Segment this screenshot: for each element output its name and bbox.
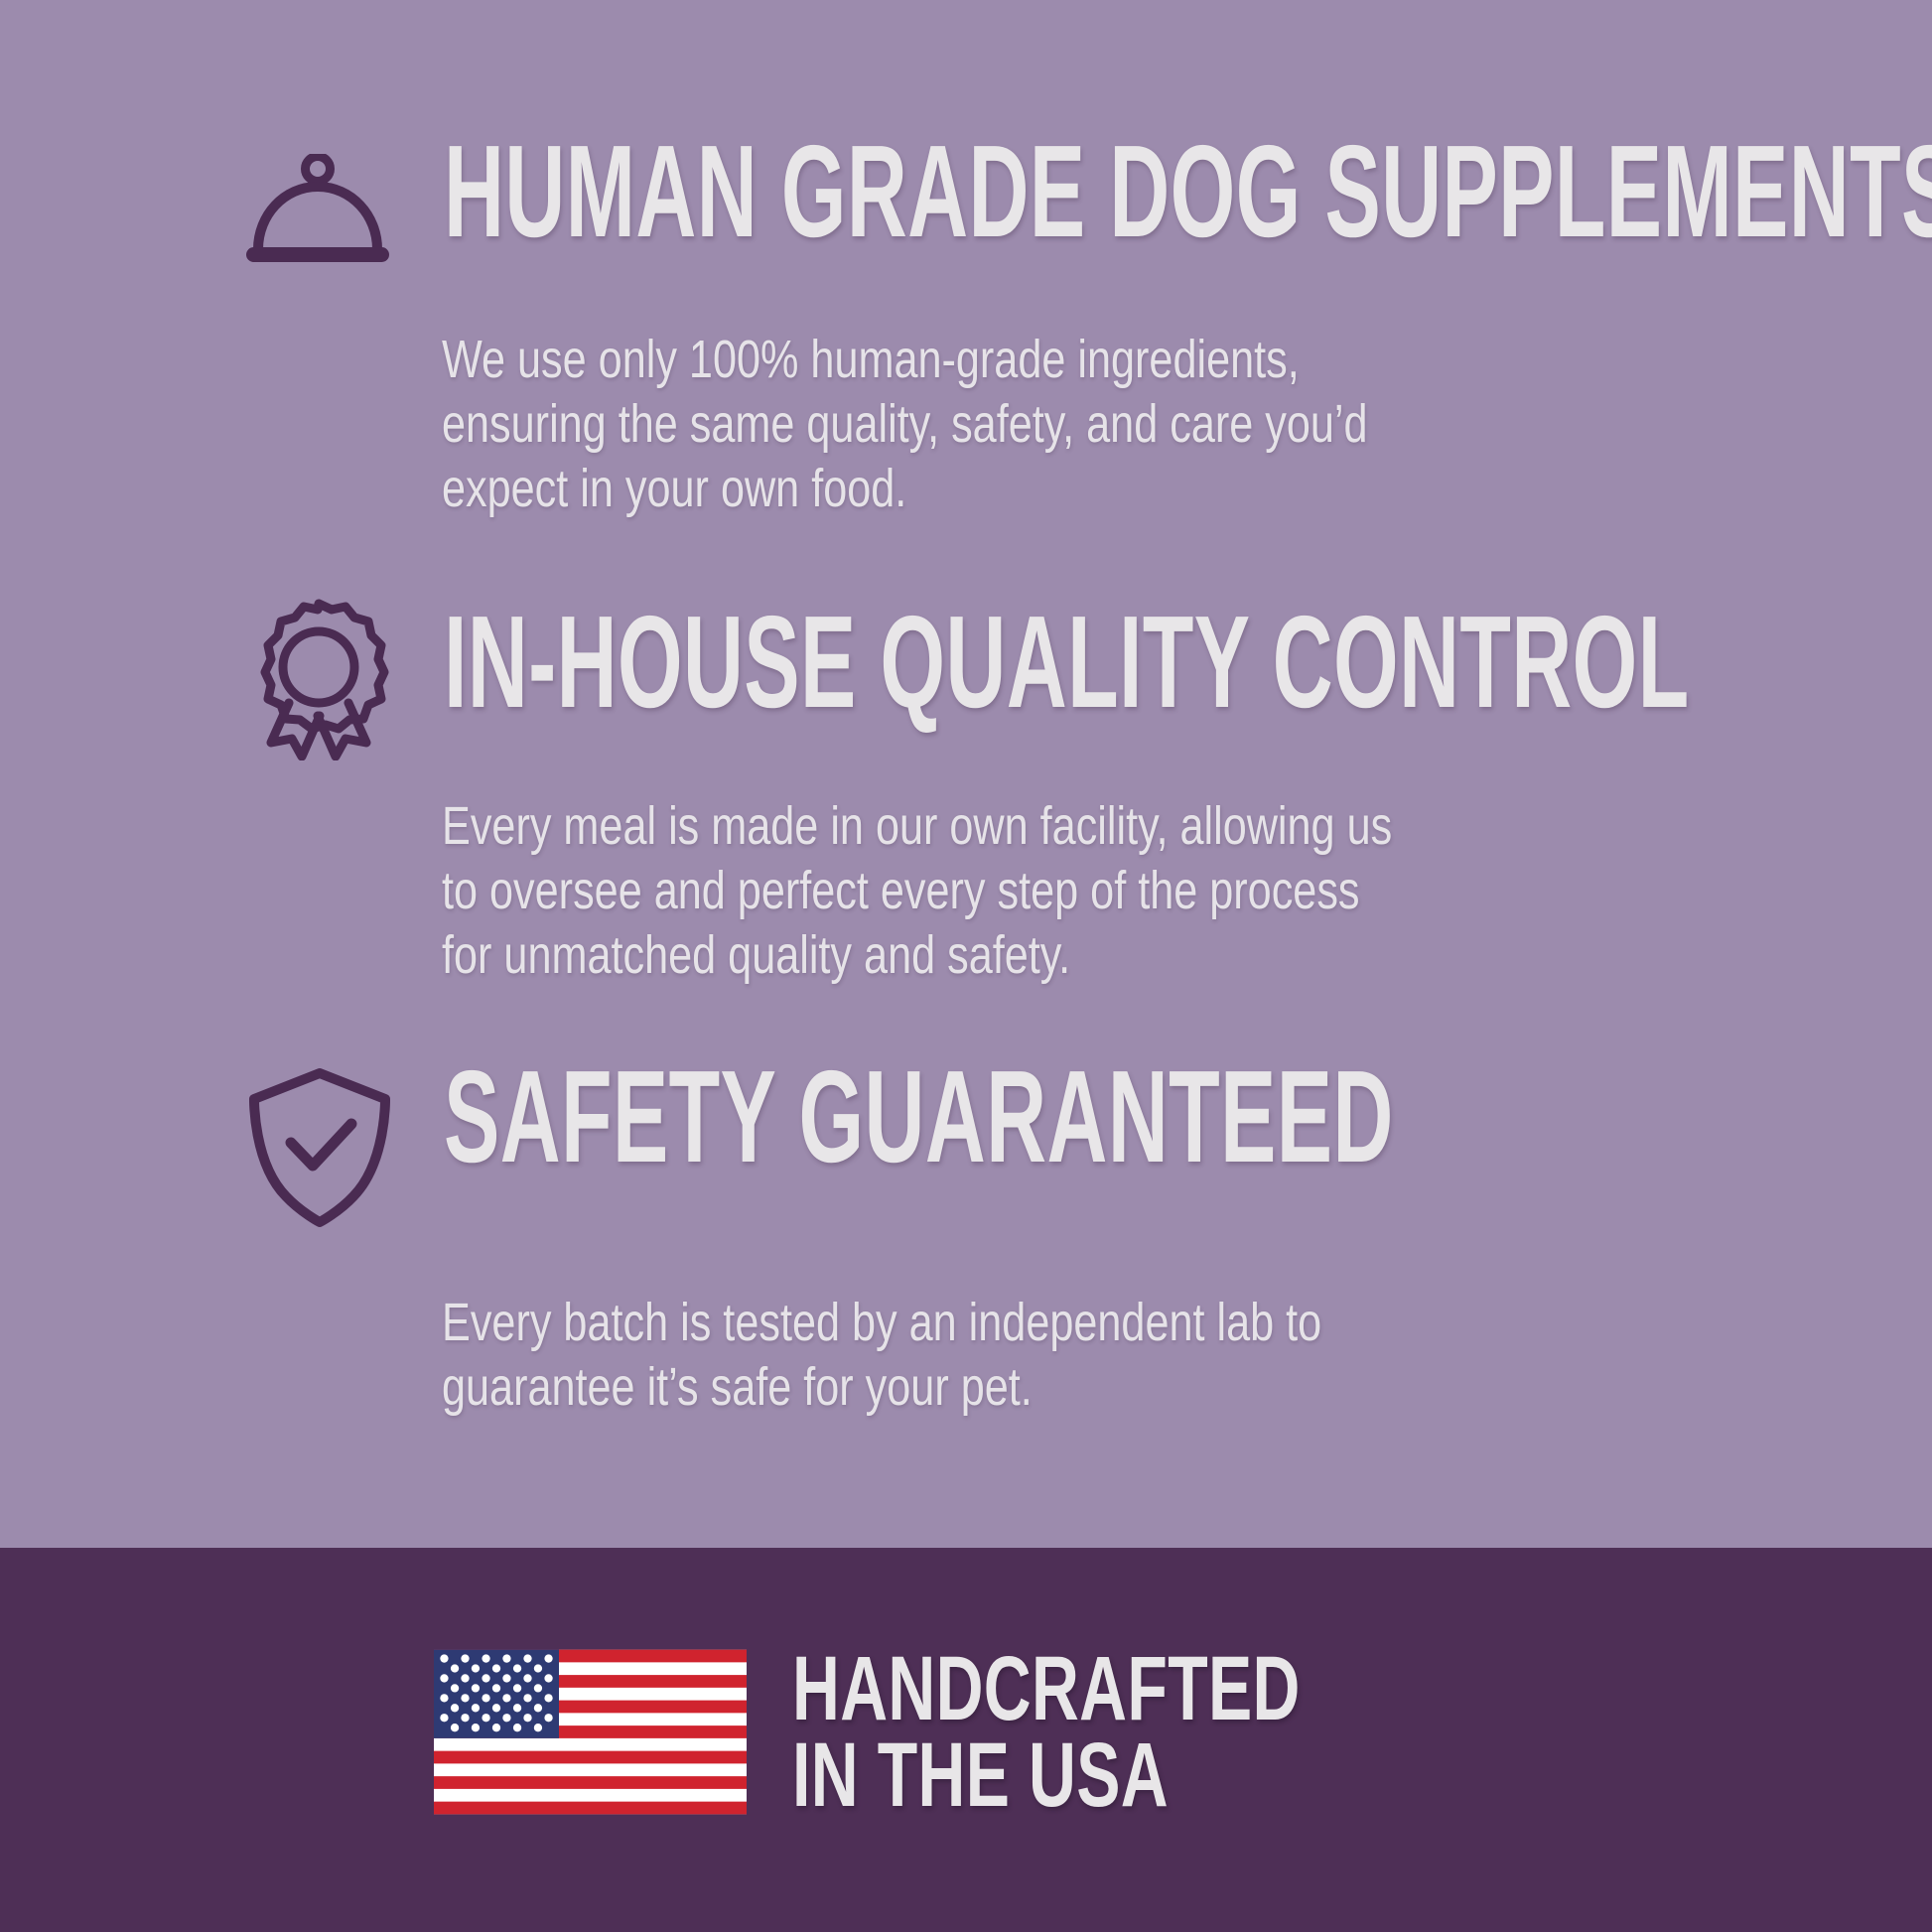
feature-title: HUMAN GRADE DOG SUPPLEMENTS [444,135,1932,248]
feature-title: SAFETY GUARANTEED [444,1060,1394,1173]
feature-body: We use only 100% human-grade ingredients… [442,328,1368,520]
feature-body: Every meal is made in our own facility, … [442,794,1392,987]
promo-graphic: HUMAN GRADE DOG SUPPLEMENTS We use only … [0,0,1932,1932]
cloche-icon [244,154,391,268]
award-ribbon-icon [244,596,393,760]
feature-body: Every batch is tested by an independent … [442,1291,1321,1420]
banner-text: HANDCRAFTED IN THE USA [792,1646,1301,1818]
banner-line-2: IN THE USA [792,1732,1301,1818]
feature-title: IN-HOUSE QUALITY CONTROL [444,606,1690,719]
banner-line-1: HANDCRAFTED [792,1646,1301,1731]
handcrafted-banner: HANDCRAFTED IN THE USA [0,1548,1932,1932]
us-flag-icon [434,1646,747,1818]
shield-check-icon [244,1067,395,1228]
